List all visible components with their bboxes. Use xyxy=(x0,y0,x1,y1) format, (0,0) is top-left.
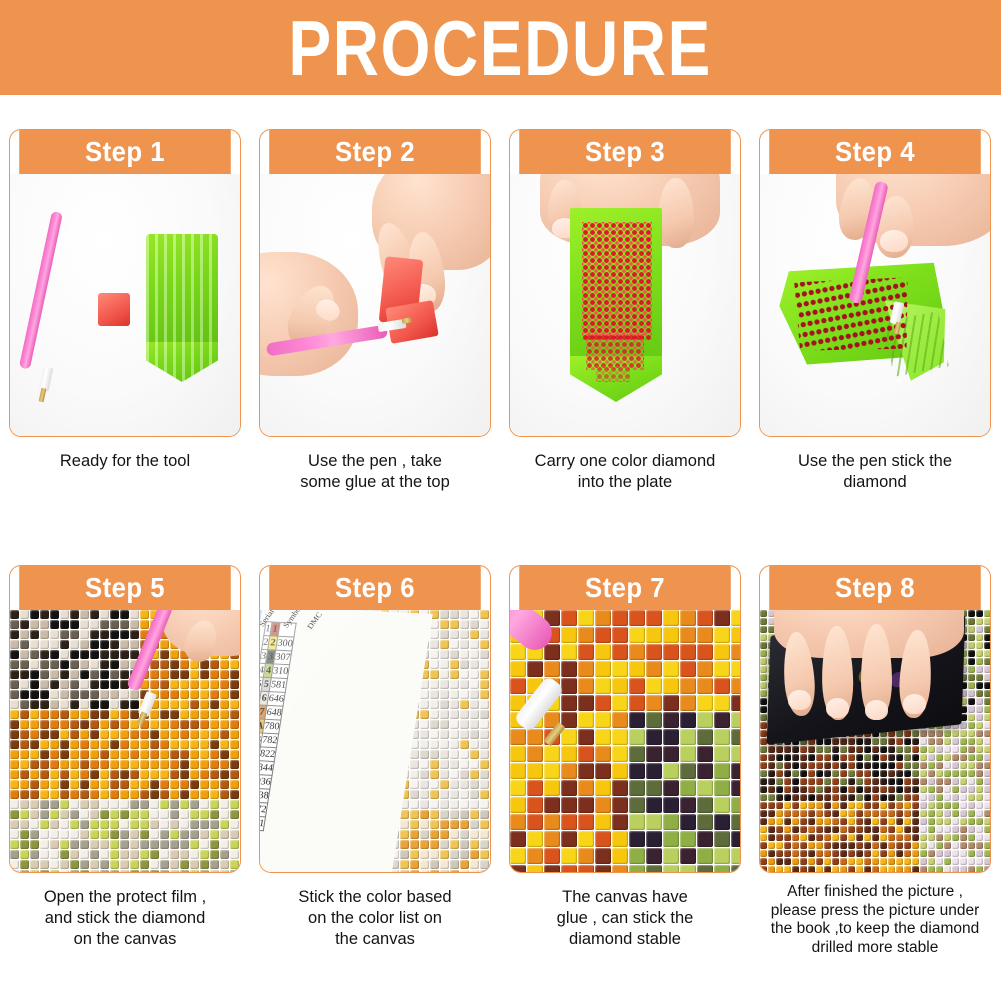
step-cell-3: Step 3 xyxy=(500,129,750,549)
step-image-3 xyxy=(510,174,740,436)
dmc-code-cell: 938 xyxy=(260,788,270,803)
step-cell-8: Step 8 xyxy=(750,565,1000,1001)
step-caption-4: Use the pen stick the diamond xyxy=(762,451,988,493)
table-row: C822 xyxy=(260,746,277,761)
dmc-code-cell: 031 xyxy=(260,816,266,831)
closeup-colored-diamonds-on-canvas-icon xyxy=(510,610,740,872)
table-row: 66646 xyxy=(260,691,285,706)
table-row: 8A780 xyxy=(260,718,281,733)
step-header-1: Step 1 xyxy=(19,130,231,174)
step-card-1: Step 1 xyxy=(9,129,241,437)
step-card-6: Step 6 112230033307443105558166646776488… xyxy=(259,565,491,873)
tools-pen-glue-plate-icon xyxy=(10,174,240,436)
dmc-color-list-chart-on-canvas-icon: 112230033307443105558166646776488A780B78… xyxy=(260,610,490,872)
table-row: F844 xyxy=(260,760,274,775)
steps-row-bottom: Step 5 Open the protect film , xyxy=(0,565,1001,1001)
step-image-7 xyxy=(510,610,740,872)
table-row: 031 xyxy=(260,815,266,830)
dmc-code-cell: 310 xyxy=(272,664,290,679)
dmc-code-cell: 581 xyxy=(269,678,287,693)
step-cell-5: Step 5 Open the protect film , xyxy=(0,565,250,1001)
table-row: 33307 xyxy=(260,649,292,664)
step-image-8 xyxy=(760,610,990,872)
step-card-8: Step 8 xyxy=(759,565,991,873)
dmc-code-cell: 822 xyxy=(260,747,277,762)
step-image-5 xyxy=(10,610,240,872)
table-row: 972 xyxy=(260,801,268,816)
steps-grid: Step 1 xyxy=(0,95,1001,1001)
step-caption-1: Ready for the tool xyxy=(12,451,238,472)
step-image-6: 112230033307443105558166646776488A780B78… xyxy=(260,610,490,872)
step-caption-3: Carry one color diamond into the plate xyxy=(512,451,738,493)
step-header-8: Step 8 xyxy=(769,566,981,610)
step-header-3: Step 3 xyxy=(519,130,731,174)
dmc-code-cell: 307 xyxy=(274,650,292,665)
step-caption-2: Use the pen , take some glue at the top xyxy=(262,451,488,493)
hands-dipping-pen-in-glue-icon xyxy=(260,174,490,436)
table-row: 77648 xyxy=(260,705,283,720)
pen-picking-diamond-from-plate-icon xyxy=(760,174,990,436)
dmc-code-cell: 844 xyxy=(260,761,274,776)
step-caption-6: Stick the color based on the color list … xyxy=(262,887,488,950)
step-card-4: Step 4 xyxy=(759,129,991,437)
dmc-code-cell: 972 xyxy=(260,802,268,817)
dmc-code-cell: 648 xyxy=(265,705,283,720)
step-header-6: Step 6 xyxy=(269,566,481,610)
placing-diamond-on-sunflower-canvas-icon xyxy=(10,610,240,872)
step-header-7: Step 7 xyxy=(519,566,731,610)
table-row: 44310 xyxy=(260,663,290,678)
table-row: 55581 xyxy=(260,677,288,692)
step-card-3: Step 3 xyxy=(509,129,741,437)
page-title: PROCEDURE xyxy=(289,9,712,87)
step-cell-6: Step 6 112230033307443105558166646776488… xyxy=(250,565,500,1001)
step-caption-8: After finished the picture , please pres… xyxy=(756,883,994,957)
steps-row-top: Step 1 xyxy=(0,129,1001,549)
dmc-code-cell: 300 xyxy=(276,636,294,651)
column-header: DMC xyxy=(305,611,323,631)
color-list-table: 112230033307443105558166646776488A780B78… xyxy=(260,621,297,831)
step-cell-4: Step 4 xyxy=(750,129,1000,549)
table-row: 938 xyxy=(260,788,270,803)
dmc-code-cell: 780 xyxy=(263,719,281,734)
step-header-4: Step 4 xyxy=(769,130,981,174)
step-cell-7: Step 7 The canvas have glue , can stick … xyxy=(500,565,750,1001)
step-caption-7: The canvas have glue , can stick the dia… xyxy=(512,887,738,950)
step-card-7: Step 7 xyxy=(509,565,741,873)
step-image-1 xyxy=(10,174,240,436)
pressing-canvas-under-book-icon xyxy=(760,610,990,872)
step-caption-5: Open the protect film , and stick the di… xyxy=(12,887,238,950)
step-card-2: Step 2 xyxy=(259,129,491,437)
table-row: B782 xyxy=(260,732,279,747)
dmc-code-cell: 936 xyxy=(260,775,272,790)
step-header-5: Step 5 xyxy=(19,566,231,610)
step-image-4 xyxy=(760,174,990,436)
table-row: 936 xyxy=(260,774,272,789)
step-cell-1: Step 1 xyxy=(0,129,250,549)
procedure-infographic: PROCEDURE Step 1 xyxy=(0,0,1001,1001)
page-banner: PROCEDURE xyxy=(0,0,1001,95)
dmc-code-cell: 646 xyxy=(267,692,285,707)
step-cell-2: Step 2 xyxy=(250,129,500,549)
hand-pouring-red-diamonds-into-plate-icon xyxy=(510,174,740,436)
dmc-code-cell: 782 xyxy=(261,733,279,748)
step-card-5: Step 5 xyxy=(9,565,241,873)
step-image-2 xyxy=(260,174,490,436)
step-header-2: Step 2 xyxy=(269,130,481,174)
